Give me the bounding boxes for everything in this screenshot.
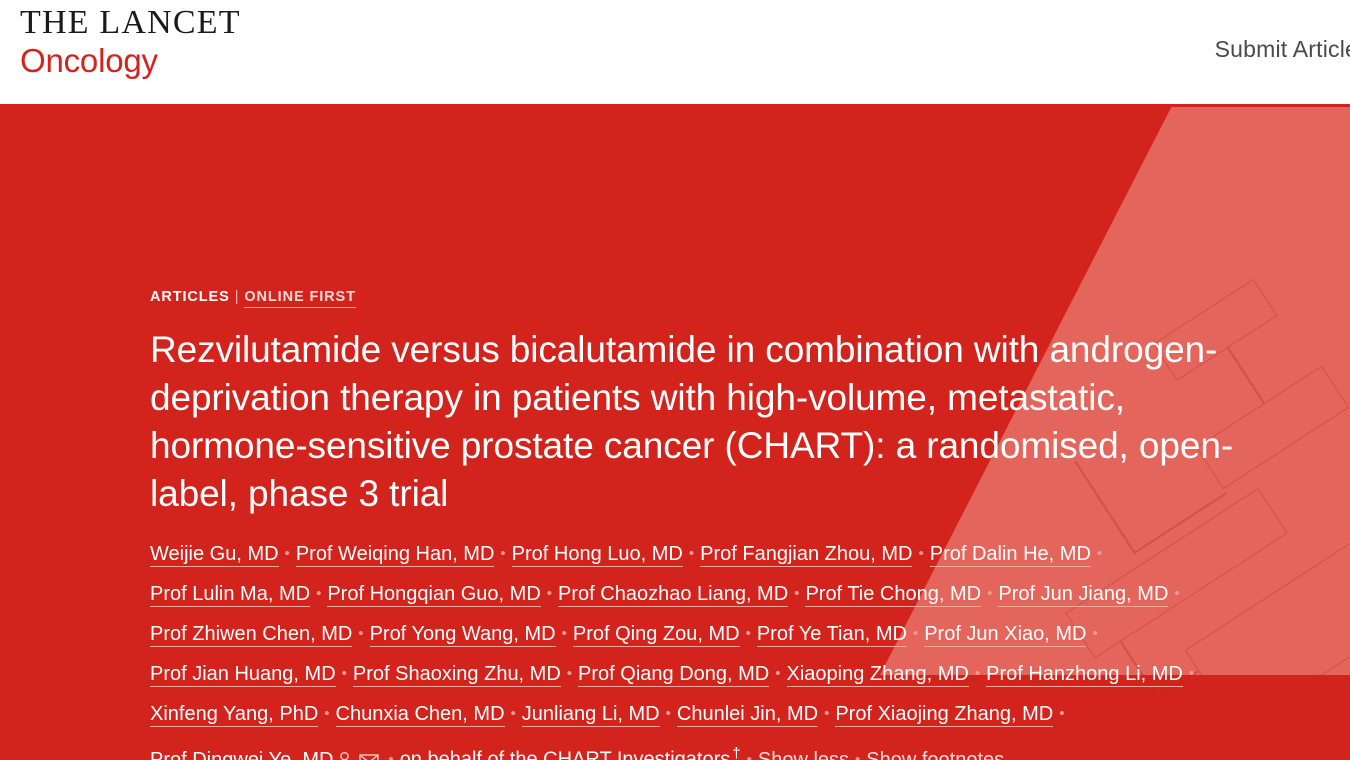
- hero-content: ARTICLES|ONLINE FIRST Rezvilutamide vers…: [150, 107, 1260, 760]
- author-separator-dot: •: [324, 694, 329, 733]
- author-separator-dot: •: [747, 740, 752, 760]
- author-separator-dot: •: [547, 574, 552, 613]
- author-separator-dot: •: [511, 694, 516, 733]
- author-link[interactable]: Prof Jun Xiao, MD: [924, 623, 1086, 647]
- author-link[interactable]: Chunlei Jin, MD: [677, 703, 818, 727]
- author-separator-dot: •: [316, 574, 321, 613]
- lancet-oncology-logo[interactable]: THE LANCET Oncology: [20, 6, 241, 77]
- author-separator-dot: •: [987, 574, 992, 613]
- author-separator-dot: •: [666, 694, 671, 733]
- footnote-marker[interactable]: †: [732, 745, 740, 760]
- author-separator-dot: •: [342, 654, 347, 693]
- author-separator-dot: •: [918, 534, 923, 573]
- author-separator-dot: •: [775, 654, 780, 693]
- show-footnotes-link[interactable]: Show footnotes: [866, 749, 1004, 760]
- author-link[interactable]: Xinfeng Yang, PhD: [150, 703, 318, 727]
- author-link[interactable]: Prof Weiqing Han, MD: [296, 543, 495, 567]
- author-link[interactable]: Junliang Li, MD: [522, 703, 660, 727]
- show-less-link[interactable]: Show less: [758, 749, 849, 760]
- author-separator-dot: •: [1189, 654, 1194, 693]
- author-link[interactable]: Prof Ye Tian, MD: [757, 623, 907, 647]
- author-separator-dot: •: [500, 534, 505, 573]
- corresponding-author-link[interactable]: Prof Dingwei Ye, MD: [150, 749, 333, 760]
- author-separator-dot: •: [1059, 694, 1064, 733]
- author-link[interactable]: Prof Hanzhong Li, MD: [986, 663, 1183, 687]
- article-kicker: ARTICLES|ONLINE FIRST: [150, 289, 1260, 305]
- author-link[interactable]: Prof Hongqian Guo, MD: [327, 583, 540, 607]
- author-link[interactable]: Prof Hong Luo, MD: [512, 543, 683, 567]
- author-link[interactable]: Prof Dalin He, MD: [930, 543, 1091, 567]
- group-attribution-text: on behalf of the CHART Investigators: [400, 749, 731, 760]
- author-separator-dot: •: [975, 654, 980, 693]
- kicker-separator: |: [235, 289, 240, 305]
- author-link[interactable]: Weijie Gu, MD: [150, 543, 279, 567]
- author-link[interactable]: Prof Shaoxing Zhu, MD: [353, 663, 561, 687]
- kicker-section-label: ARTICLES: [150, 289, 230, 305]
- author-separator-dot: •: [689, 534, 694, 573]
- author-link[interactable]: Prof Fangjian Zhou, MD: [700, 543, 912, 567]
- author-link[interactable]: Prof Jun Jiang, MD: [998, 583, 1168, 607]
- author-separator-dot: •: [388, 740, 393, 760]
- author-separator-dot: •: [913, 614, 918, 653]
- author-separator-dot: •: [1092, 614, 1097, 653]
- author-separator-dot: •: [358, 614, 363, 653]
- kicker-online-first-link[interactable]: ONLINE FIRST: [244, 289, 356, 308]
- author-link[interactable]: Prof Lulin Ma, MD: [150, 583, 310, 607]
- article-title: Rezvilutamide versus bicalutamide in com…: [150, 326, 1240, 518]
- submit-article-link[interactable]: Submit Article: [1215, 36, 1350, 63]
- author-link[interactable]: Prof Chaozhao Liang, MD: [558, 583, 788, 607]
- author-separator-dot: •: [1174, 574, 1179, 613]
- author-link[interactable]: Prof Zhiwen Chen, MD: [150, 623, 352, 647]
- logo-oncology-text: Oncology: [20, 44, 241, 77]
- author-separator-dot: •: [746, 614, 751, 653]
- article-hero-banner: ARTICLES|ONLINE FIRST Rezvilutamide vers…: [0, 107, 1350, 760]
- author-link[interactable]: Xiaoping Zhang, MD: [787, 663, 969, 687]
- author-link[interactable]: Prof Qing Zou, MD: [573, 623, 740, 647]
- logo-the-lancet-text: THE LANCET: [20, 6, 241, 40]
- author-separator-dot: •: [567, 654, 572, 693]
- author-separator-dot: •: [562, 614, 567, 653]
- author-separator-dot: •: [285, 534, 290, 573]
- author-link[interactable]: Prof Qiang Dong, MD: [578, 663, 769, 687]
- author-list: Weijie Gu, MD•Prof Weiqing Han, MD•Prof …: [150, 534, 1210, 760]
- author-separator-dot: •: [855, 740, 860, 760]
- author-link[interactable]: Prof Jian Huang, MD: [150, 663, 336, 687]
- person-icon[interactable]: [336, 744, 353, 760]
- author-link[interactable]: Prof Yong Wang, MD: [370, 623, 556, 647]
- author-link[interactable]: Prof Tie Chong, MD: [805, 583, 981, 607]
- envelope-icon[interactable]: [359, 744, 379, 760]
- author-link[interactable]: Prof Xiaojing Zhang, MD: [835, 703, 1053, 727]
- site-masthead: THE LANCET Oncology Submit Article: [0, 0, 1350, 107]
- author-separator-dot: •: [1097, 534, 1102, 573]
- author-link[interactable]: Chunxia Chen, MD: [336, 703, 505, 727]
- author-separator-dot: •: [794, 574, 799, 613]
- author-separator-dot: •: [824, 694, 829, 733]
